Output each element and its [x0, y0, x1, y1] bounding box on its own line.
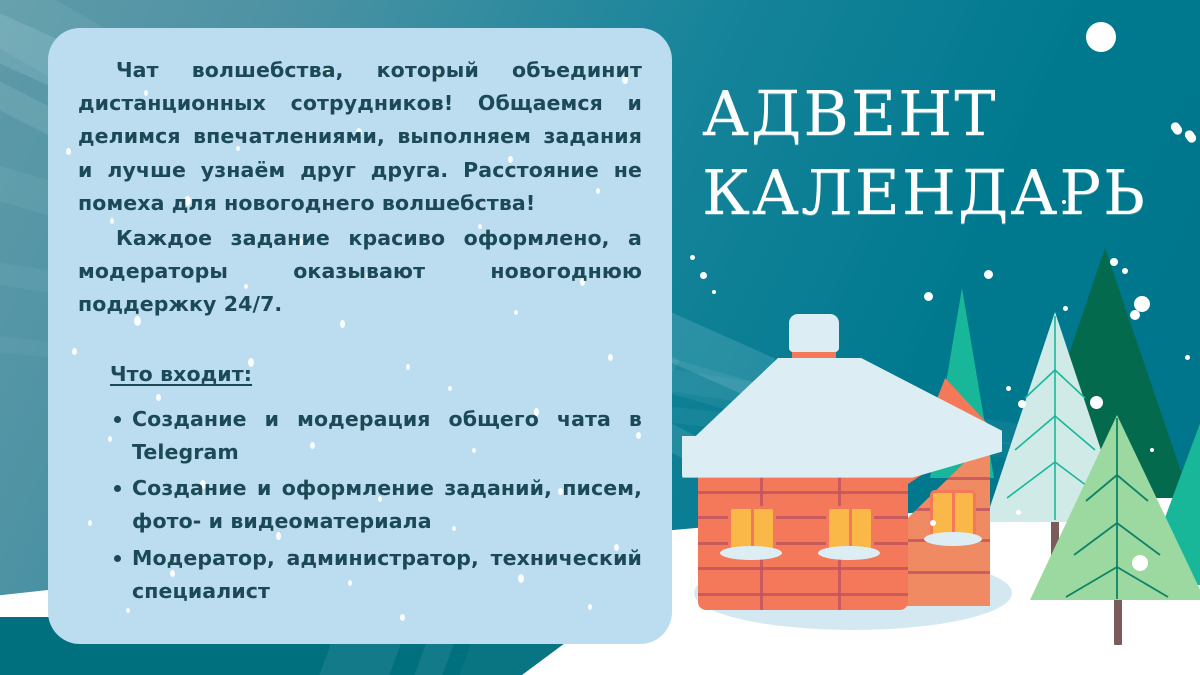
window-left-snow	[720, 546, 782, 560]
window-center-snow	[818, 546, 880, 560]
list-item: Создание и оформление заданий, писем, фо…	[132, 472, 642, 538]
description-card: Чат волшебства, который объединит дистан…	[48, 28, 672, 644]
included-items-list: Создание и модерация общего чата в Teleg…	[78, 403, 642, 608]
advent-calendar-slide: Чат волшебства, который объединит дистан…	[0, 0, 1200, 675]
list-item: Модератор, администратор, технический сп…	[132, 542, 642, 608]
house-roof-snow	[682, 358, 1002, 488]
house-roof-edge	[682, 436, 914, 458]
card-text-content: Чат волшебства, который объединит дистан…	[78, 54, 642, 608]
window-side-snow	[924, 532, 982, 546]
list-heading-wrap: Что входит:	[78, 324, 642, 397]
title-line-2: КАЛЕНДАРЬ	[702, 153, 1172, 232]
title-line-1: АДВЕНТ	[702, 74, 1172, 153]
paragraph-2: Каждое задание красиво оформлено, а моде…	[78, 222, 642, 322]
fir-tree-icon	[1030, 415, 1200, 600]
paragraph-1: Чат волшебства, который объединит дистан…	[78, 54, 642, 220]
chimney-snow-cap	[789, 314, 839, 352]
page-title: АДВЕНТ КАЛЕНДАРЬ	[702, 74, 1172, 233]
list-heading: Что входит:	[110, 358, 252, 391]
snow-covered-log-cabin	[690, 318, 1020, 630]
light-green-fir-tree	[1030, 415, 1200, 645]
list-item: Создание и модерация общего чата в Teleg…	[132, 403, 642, 469]
